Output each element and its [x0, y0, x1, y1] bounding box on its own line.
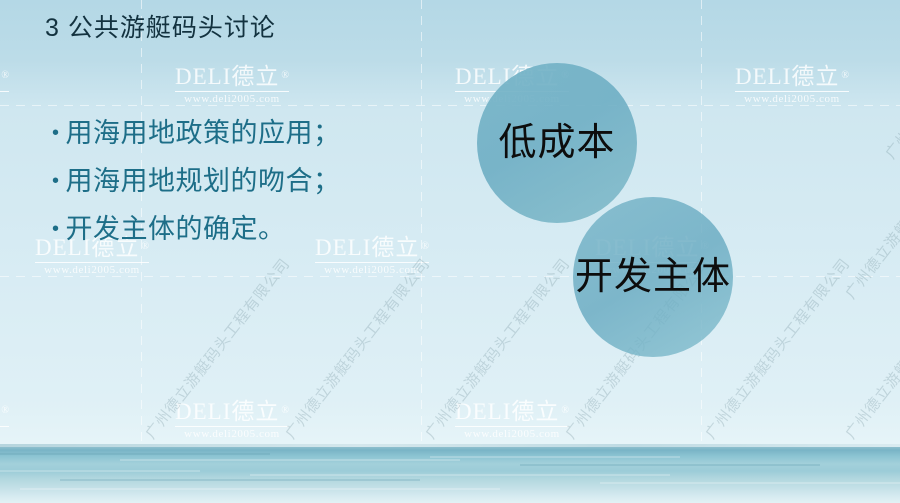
watermark-url: www.deli2005.com	[735, 94, 849, 105]
watermark-deli: DELI德立® www.deli2005.com	[455, 400, 569, 440]
sea-streak	[20, 488, 500, 490]
registered-mark-icon: ®	[281, 405, 289, 416]
watermark-url: www.deli2005.com	[315, 265, 429, 276]
watermark-rule	[175, 91, 289, 92]
list-item-label: 开发主体的确定。	[66, 214, 286, 246]
registered-mark-icon: ®	[841, 70, 849, 81]
watermark-diagonal: 广州德立游艇码头工程有限公司	[840, 113, 900, 302]
watermark-diagonal: 广州德立游艇码头工程有限公司	[280, 253, 434, 442]
watermark-url: www.deli2005.com	[455, 429, 569, 440]
sea-streak	[600, 482, 900, 484]
sea-band	[0, 447, 900, 503]
bullet-list: • 用海用地政策的应用； • 用海用地规划的吻合； • 开发主体的确定。	[52, 118, 452, 262]
watermark-deli: DELI德立® www.deli2005.com	[0, 65, 9, 105]
watermark-url: www.deli2005.com	[175, 429, 289, 440]
watermark-brand: DELI德立	[175, 400, 279, 423]
watermark-brand: DELI德立	[735, 65, 839, 88]
grid-line-horizontal	[0, 105, 900, 106]
registered-mark-icon: ®	[1, 405, 9, 416]
page-title: 3 公共游艇码头讨论	[45, 8, 276, 44]
bullet-dot-icon: •	[52, 214, 60, 244]
watermark-rule	[315, 262, 429, 263]
registered-mark-icon: ®	[1, 70, 9, 81]
circle-developer: 开发主体	[573, 197, 733, 357]
watermark-url: www.deli2005.com	[175, 94, 289, 105]
watermark-diagonal: 广州德立游艇码头工程有限公司	[840, 253, 900, 442]
registered-mark-icon: ®	[561, 405, 569, 416]
watermark-rule	[0, 91, 9, 92]
watermark-brand: DELI德立	[455, 400, 559, 423]
watermark-rule	[35, 262, 149, 263]
bullet-dot-icon: •	[52, 166, 60, 196]
list-item: • 用海用地政策的应用；	[52, 118, 452, 150]
watermark-rule	[0, 426, 9, 427]
watermark-rule	[175, 426, 289, 427]
watermark-deli: DELI德立® www.deli2005.com	[175, 400, 289, 440]
watermark-deli: DELI德立® www.deli2005.com	[735, 65, 849, 105]
sea-streak	[120, 459, 460, 461]
sea-streak	[60, 479, 420, 481]
list-item-label: 用海用地规划的吻合；	[66, 166, 341, 198]
sea-streak	[250, 474, 670, 476]
watermark-diagonal: 广州德立游艇码头工程有限公司	[420, 253, 574, 442]
watermark-deli: DELI德立® www.deli2005.com	[0, 400, 9, 440]
watermark-rule	[455, 426, 569, 427]
circle-label: 开发主体	[575, 256, 731, 299]
sea-streak	[520, 464, 820, 466]
watermark-deli: DELI德立® www.deli2005.com	[175, 65, 289, 105]
list-item: • 开发主体的确定。	[52, 214, 452, 246]
presentation-slide: DELI德立® www.deli2005.com DELI德立® www.del…	[0, 0, 900, 503]
sea-streak	[0, 453, 270, 455]
watermark-brand: DELI德立	[175, 65, 279, 88]
list-item: • 用海用地规划的吻合；	[52, 166, 452, 198]
registered-mark-icon: ®	[281, 70, 289, 81]
circle-low-cost: 低成本	[477, 63, 637, 223]
sea-streak	[0, 470, 200, 472]
circle-label: 低成本	[498, 122, 615, 165]
watermark-diagonal: 广州德立游艇码头工程有限公司	[140, 253, 294, 442]
watermark-url: www.deli2005.com	[0, 94, 9, 105]
list-item-label: 用海用地政策的应用；	[66, 118, 341, 150]
watermark-diagonal: 广州德立游艇码头工程有限公司	[880, 0, 900, 163]
grid-line-horizontal	[0, 276, 900, 277]
watermark-rule	[735, 91, 849, 92]
sea-streak	[430, 456, 680, 458]
watermark-url: www.deli2005.com	[0, 429, 9, 440]
watermark-url: www.deli2005.com	[35, 265, 149, 276]
bullet-dot-icon: •	[52, 118, 60, 148]
